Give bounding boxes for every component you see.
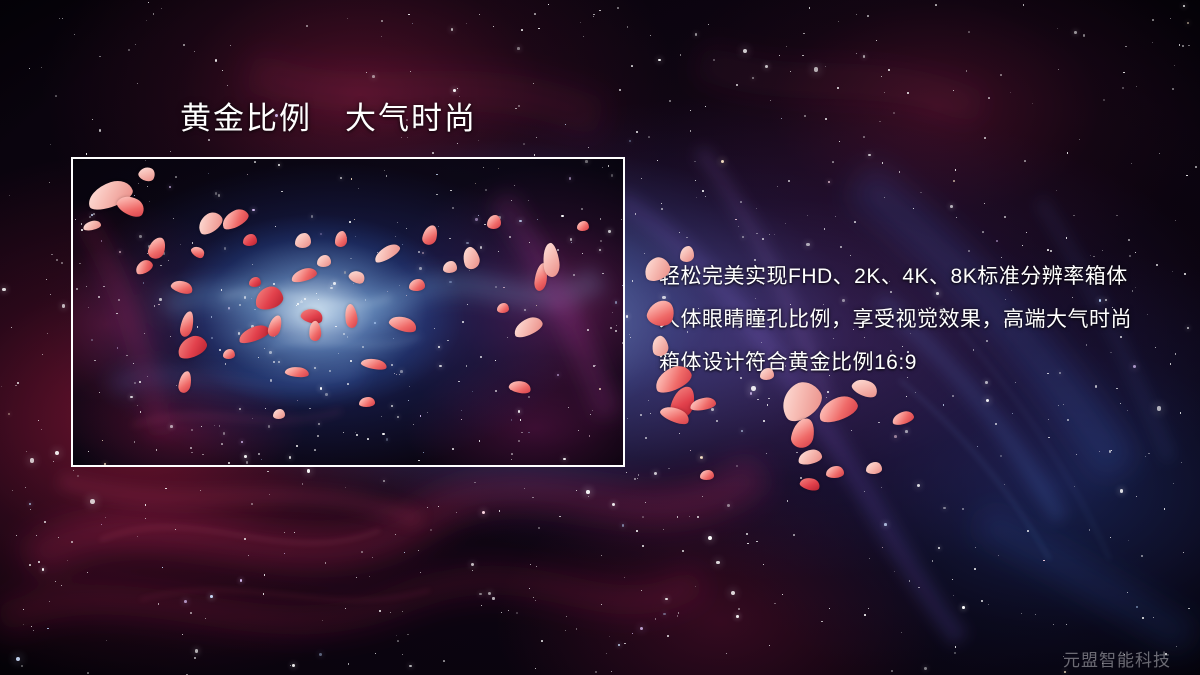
rose-petal [700,470,714,480]
slide-title: 黄金比例 大气时尚 [180,100,477,137]
framed-image-content [73,159,623,465]
rose-petal [295,233,311,248]
rose-petal [273,409,285,419]
watermark-logo-text: 元盟智能科技 [1063,646,1171,671]
rose-petal [866,462,882,474]
rose-petal [680,246,694,262]
rose-petal [409,279,425,291]
body-line: 轻松完美实现FHD、2K、4K、8K标准分辨率箱体 [659,255,1179,298]
rose-petal [487,215,501,229]
rose-petal [243,234,257,246]
rose-petal [826,466,844,478]
rose-petal [249,277,261,287]
framed-nebula-image [71,157,625,467]
rose-petal [497,303,509,313]
rose-petal [335,231,347,247]
rose-petal [223,349,235,359]
body-line: 箱体设计符合黄金比例16:9 [659,341,1179,384]
presentation-slide: 黄金比例 大气时尚 [0,0,1200,675]
rose-petal [443,261,457,273]
rose-petal [317,255,331,267]
rose-petal [577,221,589,231]
rose-petal [359,397,375,407]
rose-petal [760,368,774,380]
body-line: 人体眼睛瞳孔比例，享受视觉效果，高端大气时尚 [659,298,1179,341]
body-text-block: 轻松完美实现FHD、2K、4K、8K标准分辨率箱体 人体眼睛瞳孔比例，享受视觉效… [659,255,1179,384]
